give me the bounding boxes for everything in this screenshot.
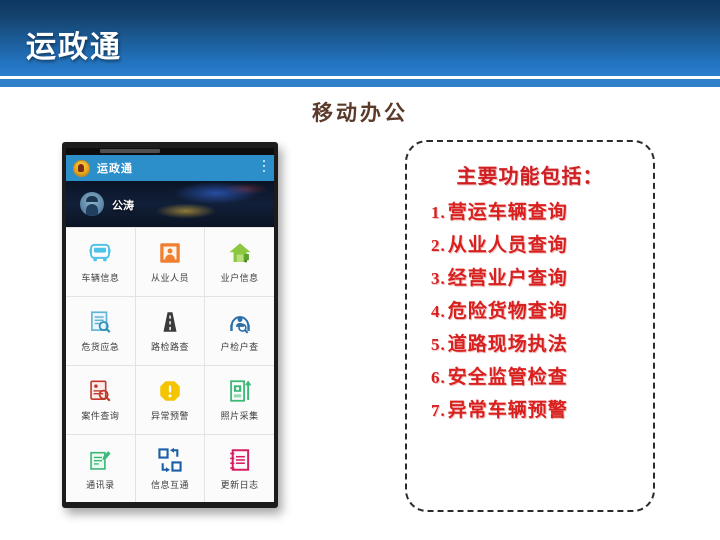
person-search-icon	[227, 309, 253, 335]
grid-item-label: 业户信息	[221, 271, 259, 284]
feature-number: 7.	[431, 401, 446, 420]
grid-item-vehicle-info[interactable]: 车辆信息	[66, 228, 135, 296]
officer-avatar-icon	[80, 192, 104, 216]
exchange-icon	[157, 447, 183, 473]
features-panel: 主要功能包括： 1.营运车辆查询 2.从业人员查询 3.经营业户查询 4.危险货…	[405, 140, 655, 512]
feature-label: 危险货物查询	[448, 301, 568, 322]
feature-item: 3.经营业户查询	[431, 263, 647, 290]
feature-label: 从业人员查询	[448, 235, 568, 256]
grid-item-label: 车辆信息	[81, 271, 119, 284]
grid-item-label: 从业人员	[151, 271, 189, 284]
bus-icon	[87, 240, 113, 266]
grid-item-label: 照片采集	[221, 409, 259, 422]
grid-item-label: 危货应急	[81, 340, 119, 353]
feature-item: 5.道路现场执法	[431, 329, 647, 356]
road-icon	[157, 309, 183, 335]
feature-label: 异常车辆预警	[448, 400, 568, 421]
slide-title: 运政通	[26, 22, 122, 66]
feature-label: 安全监管检查	[448, 367, 568, 388]
app-icon-grid: 车辆信息 从业人员 业户信息	[66, 227, 274, 502]
person-frame-icon	[157, 240, 183, 266]
features-title: 主要功能包括：	[413, 160, 647, 189]
grid-item-household-inspection[interactable]: 户检户查	[205, 297, 274, 365]
phone-screen: 运政通 公涛 车辆信息	[66, 148, 274, 502]
warning-icon	[157, 378, 183, 404]
grid-item-update-log[interactable]: 更新日志	[205, 435, 274, 502]
feature-label: 营运车辆查询	[448, 202, 568, 223]
grid-item-label: 路检路查	[151, 340, 189, 353]
grid-item-road-inspection[interactable]: 路检路查	[136, 297, 205, 365]
grid-item-label: 通讯录	[86, 478, 115, 491]
grid-item-case-query[interactable]: 案件查询	[66, 366, 135, 434]
photo-upload-icon	[227, 378, 253, 404]
header-accent-bar	[0, 79, 720, 87]
notebook-icon	[227, 447, 253, 473]
grid-item-contacts[interactable]: 通讯录	[66, 435, 135, 502]
grid-item-photo-collection[interactable]: 照片采集	[205, 366, 274, 434]
grid-item-label: 案件查询	[81, 409, 119, 422]
feature-item: 2.从业人员查询	[431, 230, 647, 257]
hero-banner: 公涛	[66, 181, 274, 227]
app-bar-title: 运政通	[97, 160, 133, 176]
grid-item-practitioner[interactable]: 从业人员	[136, 228, 205, 296]
feature-label: 道路现场执法	[448, 334, 568, 355]
app-bar: 运政通	[66, 155, 274, 181]
house-icon	[227, 240, 253, 266]
grid-item-abnormal-alert[interactable]: 异常预警	[136, 366, 205, 434]
feature-number: 3.	[431, 269, 446, 288]
police-badge-icon	[73, 160, 90, 177]
feature-label: 经营业户查询	[448, 268, 568, 289]
grid-item-label: 信息互通	[151, 478, 189, 491]
feature-item: 7.异常车辆预警	[431, 395, 647, 422]
case-search-icon	[87, 378, 113, 404]
feature-number: 5.	[431, 335, 446, 354]
phone-mockup: 运政通 公涛 车辆信息	[62, 142, 278, 508]
contacts-edit-icon	[87, 447, 113, 473]
grid-item-message-exchange[interactable]: 信息互通	[136, 435, 205, 502]
grid-item-label: 更新日志	[221, 478, 259, 491]
feature-number: 2.	[431, 236, 446, 255]
grid-item-label: 异常预警	[151, 409, 189, 422]
grid-item-hazmat-emergency[interactable]: 危货应急	[66, 297, 135, 365]
feature-item: 4.危险货物查询	[431, 296, 647, 323]
feature-number: 4.	[431, 302, 446, 321]
feature-number: 1.	[431, 203, 446, 222]
feature-number: 6.	[431, 368, 446, 387]
feature-item: 1.营运车辆查询	[431, 197, 647, 224]
grid-item-label: 户检户查	[221, 340, 259, 353]
grid-item-business-info[interactable]: 业户信息	[205, 228, 274, 296]
hero-user-name: 公涛	[112, 197, 134, 213]
phone-status-bar	[66, 148, 274, 155]
overflow-menu-icon[interactable]	[263, 160, 266, 176]
slide-subtitle: 移动办公	[0, 97, 720, 127]
status-bar-indicators-icon	[100, 149, 160, 153]
feature-item: 6.安全监管检查	[431, 362, 647, 389]
document-search-icon	[87, 309, 113, 335]
